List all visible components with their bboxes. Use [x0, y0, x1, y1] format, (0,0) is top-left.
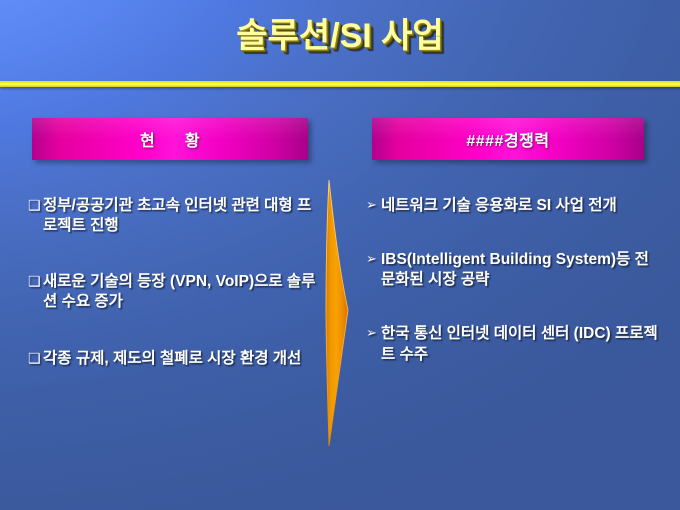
list-item-text: IBS(Intelligent Building System)등 전문화된 시…	[381, 250, 658, 290]
slide-title: 솔루션/SI 사업	[236, 18, 443, 55]
bullet-list-competitiveness: ➢ 네트워크 기술 응용화로 SI 사업 전개 ➢ IBS(Intelligen…	[366, 196, 658, 399]
list-item: ❑ 각종 규제, 제도의 철폐로 시장 환경 개선	[28, 349, 320, 369]
list-item-text: 새로운 기술의 등장 (VPN, VoIP)으로 솔루션 수요 증가	[43, 272, 320, 312]
section-header-competitiveness: ####경쟁력	[372, 118, 644, 160]
presentation-slide: 솔루션/SI 사업 현 황 ####경쟁력 ❑ 정부/공공기관 초고속 인터넷 …	[0, 0, 680, 510]
list-item-text: 각종 규제, 제도의 철폐로 시장 환경 개선	[43, 349, 320, 369]
list-item-text: 정부/공공기관 초고속 인터넷 관련 대형 프로젝트 진행	[43, 196, 320, 236]
list-item-text: 네트워크 기술 응용화로 SI 사업 전개	[381, 196, 658, 216]
bullet-list-current-status: ❑ 정부/공공기관 초고속 인터넷 관련 대형 프로젝트 진행 ❑ 새로운 기술…	[28, 196, 320, 405]
list-item: ➢ 한국 통신 인터넷 데이터 센터 (IDC) 프로젝트 수주	[366, 324, 658, 364]
list-item: ➢ IBS(Intelligent Building System)등 전문화된…	[366, 250, 658, 290]
list-item-text: 한국 통신 인터넷 데이터 센터 (IDC) 프로젝트 수주	[381, 324, 658, 364]
arrow-bullet-icon: ➢	[366, 196, 381, 213]
section-header-current-status: 현 황	[32, 118, 308, 160]
list-item: ❑ 새로운 기술의 등장 (VPN, VoIP)으로 솔루션 수요 증가	[28, 272, 320, 312]
arrow-bullet-icon: ➢	[366, 250, 381, 267]
center-arrow-icon	[320, 178, 364, 448]
arrow-bullet-icon: ➢	[366, 324, 381, 341]
section-header-left-label: 현 황	[140, 127, 200, 151]
square-bullet-icon: ❑	[28, 272, 43, 290]
section-header-right-label: ####경쟁력	[466, 127, 549, 151]
list-item: ❑ 정부/공공기관 초고속 인터넷 관련 대형 프로젝트 진행	[28, 196, 320, 236]
square-bullet-icon: ❑	[28, 349, 43, 367]
square-bullet-icon: ❑	[28, 196, 43, 214]
slide-title-container: 솔루션/SI 사업	[0, 18, 680, 55]
title-divider-rule	[0, 81, 680, 87]
list-item: ➢ 네트워크 기술 응용화로 SI 사업 전개	[366, 196, 658, 216]
